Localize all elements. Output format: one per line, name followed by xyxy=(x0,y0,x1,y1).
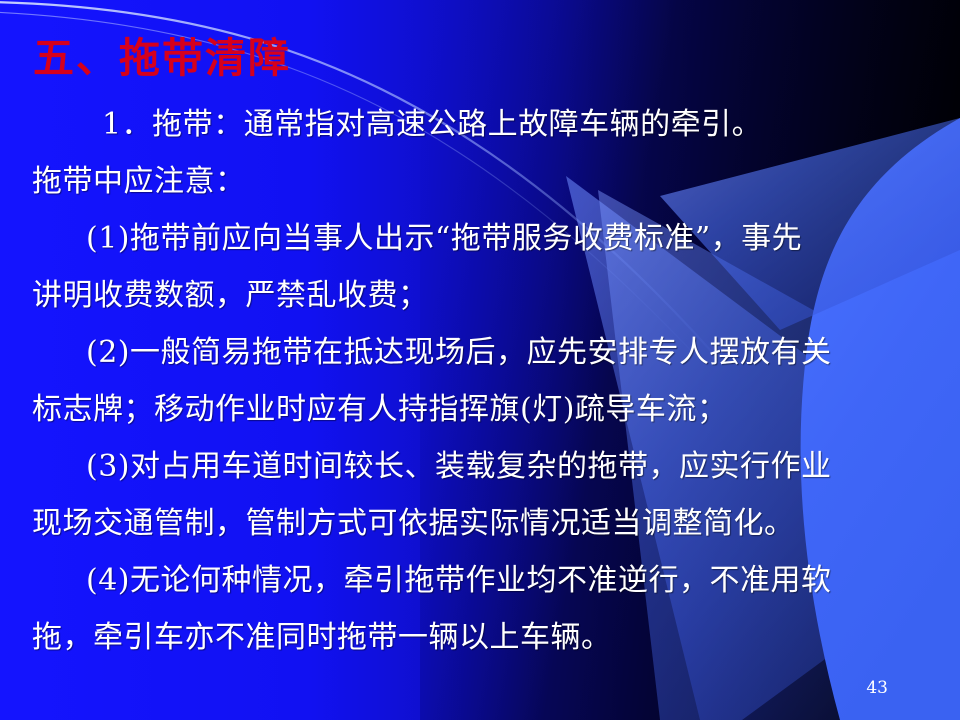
slide-content: 五、拖带清障 1．拖带：通常指对高速公路上故障车辆的牵引。 拖带中应注意： (1… xyxy=(0,0,960,720)
paragraph-9: (4)无论何种情况，牵引拖带作业均不准逆行，不准用软 xyxy=(24,552,936,609)
paragraph-1: 1．拖带：通常指对高速公路上故障车辆的牵引。 xyxy=(24,96,936,153)
paragraph-4: 讲明收费数额，严禁乱收费； xyxy=(24,267,936,324)
paragraph-2: 拖带中应注意： xyxy=(24,153,936,210)
paragraph-7: (3)对占用车道时间较长、装载复杂的拖带，应实行作业 xyxy=(24,438,936,495)
paragraph-3: (1)拖带前应向当事人出示“拖带服务收费标准”，事先 xyxy=(24,210,936,267)
paragraph-10: 拖，牵引车亦不准同时拖带一辆以上车辆。 xyxy=(24,609,936,666)
presentation-slide: 五、拖带清障 1．拖带：通常指对高速公路上故障车辆的牵引。 拖带中应注意： (1… xyxy=(0,0,960,720)
paragraph-8: 现场交通管制，管制方式可依据实际情况适当调整简化。 xyxy=(24,495,936,552)
page-title: 五、拖带清障 xyxy=(33,36,291,81)
paragraph-6: 标志牌；移动作业时应有人持指挥旗(灯)疏导车流； xyxy=(24,381,936,438)
page-number: 43 xyxy=(866,678,888,698)
body-text-block: 1．拖带：通常指对高速公路上故障车辆的牵引。 拖带中应注意： (1)拖带前应向当… xyxy=(24,96,936,666)
paragraph-5: (2)一般简易拖带在抵达现场后，应先安排专人摆放有关 xyxy=(24,324,936,381)
